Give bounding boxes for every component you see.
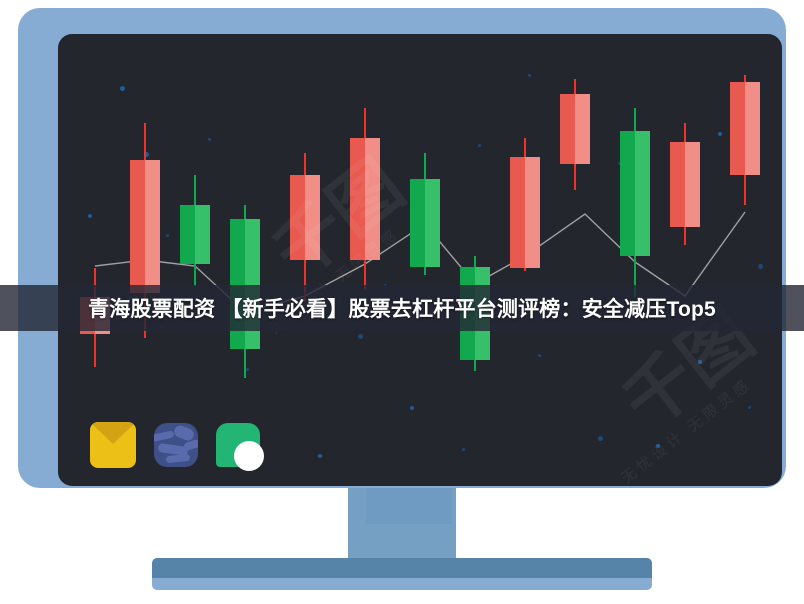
headline-banner: 青海股票配资 【新手必看】股票去杠杆平台测评榜：安全减压Top5 <box>0 285 804 331</box>
candle-body <box>670 142 700 227</box>
candle-body-right <box>745 82 760 175</box>
candle-body-left <box>180 205 195 264</box>
candle-body-right <box>305 175 320 260</box>
mail-flap <box>90 422 136 444</box>
candlestick <box>670 123 700 245</box>
candle-body <box>620 131 650 257</box>
candlestick <box>510 138 540 271</box>
screenshot-stage: 千图 无忧设计 无限灵感 千图 无忧设计 无限灵感 <box>0 0 804 604</box>
candle-body-right <box>365 138 380 260</box>
candle-body <box>350 138 380 260</box>
monitor-screen: 千图 无忧设计 无限灵感 千图 无忧设计 无限灵感 <box>58 34 782 486</box>
candle-body-right <box>425 179 440 268</box>
candle-body-right <box>635 131 650 257</box>
monitor-stand-highlight <box>366 488 452 524</box>
candlestick <box>350 108 380 289</box>
candle-body <box>560 94 590 164</box>
globe-land-1 <box>154 430 174 442</box>
candle-body-left <box>620 131 635 257</box>
app-icon[interactable] <box>216 423 260 467</box>
candlestick <box>620 108 650 297</box>
globe-land-4 <box>166 454 191 463</box>
candle-body <box>130 160 160 293</box>
app-icon-dot <box>234 441 264 471</box>
monitor-base-edge <box>152 578 652 590</box>
candlestick-chart: 千图 无忧设计 无限灵感 千图 无忧设计 无限灵感 <box>58 34 782 486</box>
candlestick <box>290 153 320 301</box>
candle-body <box>290 175 320 260</box>
candle-body-right <box>195 205 210 264</box>
candle-body-right <box>525 157 540 268</box>
candle-body-right <box>685 142 700 227</box>
globe-land-5 <box>183 439 198 452</box>
candlestick <box>560 79 590 190</box>
monitor-stand-neck <box>348 488 456 566</box>
candlestick <box>410 153 440 275</box>
headline-text: 青海股票配资 【新手必看】股票去杠杆平台测评榜：安全减压Top5 <box>88 293 716 323</box>
candle-body <box>180 205 210 264</box>
candle-body-left <box>130 160 145 293</box>
candle-body-left <box>350 138 365 260</box>
candle-body-left <box>560 94 575 164</box>
candlestick <box>730 75 760 205</box>
monitor-bezel: 千图 无忧设计 无限灵感 千图 无忧设计 无限灵感 <box>18 8 786 488</box>
candle-body-right <box>145 160 160 293</box>
candle-body <box>730 82 760 175</box>
candlestick <box>180 175 210 286</box>
globe-icon[interactable] <box>154 423 198 467</box>
dock-icons <box>90 422 260 468</box>
candle-body-left <box>670 142 685 227</box>
candle-body <box>410 179 440 268</box>
mail-icon[interactable] <box>90 422 136 468</box>
candle-body-right <box>575 94 590 164</box>
candle-body-left <box>510 157 525 268</box>
candle-body-left <box>730 82 745 175</box>
candle-body <box>510 157 540 268</box>
candle-body-left <box>410 179 425 268</box>
candle-body-left <box>290 175 305 260</box>
